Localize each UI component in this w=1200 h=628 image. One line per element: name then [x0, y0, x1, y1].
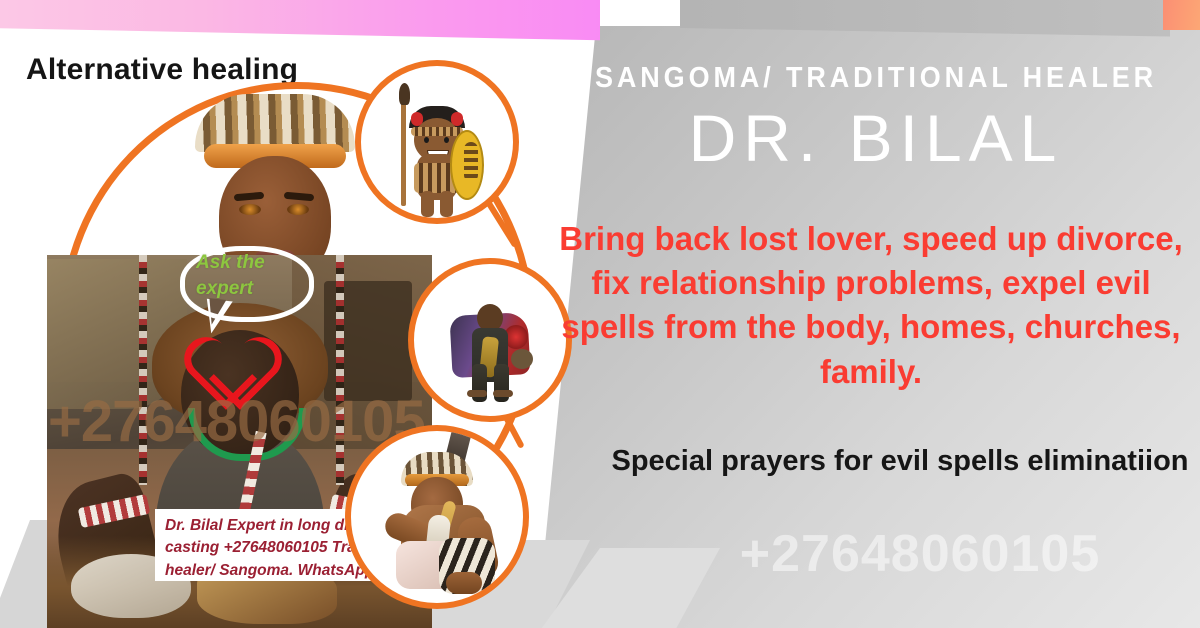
- services-text: Bring back lost lover, speed up divorce,…: [546, 217, 1196, 394]
- phone-number-watermark: +27648060105: [640, 524, 1200, 584]
- eye-left: [239, 204, 261, 215]
- figure-pouch: [511, 349, 533, 369]
- brand-name: DR. BILAL: [566, 104, 1186, 173]
- speech-bubble-text: Ask the expert: [196, 250, 296, 301]
- crouching-feathered-healer-icon: [351, 431, 523, 603]
- page-title: Alternative healing: [26, 53, 298, 87]
- warrior-leg-right: [440, 191, 453, 217]
- spear-shaft: [401, 87, 406, 206]
- shield-marking: [464, 142, 478, 182]
- eye-right: [287, 204, 309, 215]
- circle-badge-warrior: [355, 60, 519, 224]
- robed-traditional-figure-icon: [414, 264, 566, 416]
- caption-line-3: healer/ Sangoma. WhatsApp n: [165, 560, 382, 581]
- warrior-headband: [411, 127, 463, 136]
- warrior-leg-left: [421, 191, 434, 217]
- cartoon-zulu-warrior-icon: [361, 66, 513, 218]
- circle-badge-crouching-healer: [345, 425, 529, 609]
- healer-knee: [446, 572, 482, 594]
- figure-foot-left: [467, 390, 487, 397]
- poster-canvas: Alternative healing: [0, 0, 1200, 628]
- top-orange-bar: [1163, 0, 1200, 30]
- special-prayers-text: Special prayers for evil spells eliminat…: [600, 442, 1200, 481]
- spear-tip: [399, 83, 410, 105]
- kicker-heading: SANGOMA/ TRADITIONAL HEALER: [588, 62, 1165, 95]
- top-pink-bar: [0, 0, 600, 40]
- figure-foot-right: [493, 390, 513, 397]
